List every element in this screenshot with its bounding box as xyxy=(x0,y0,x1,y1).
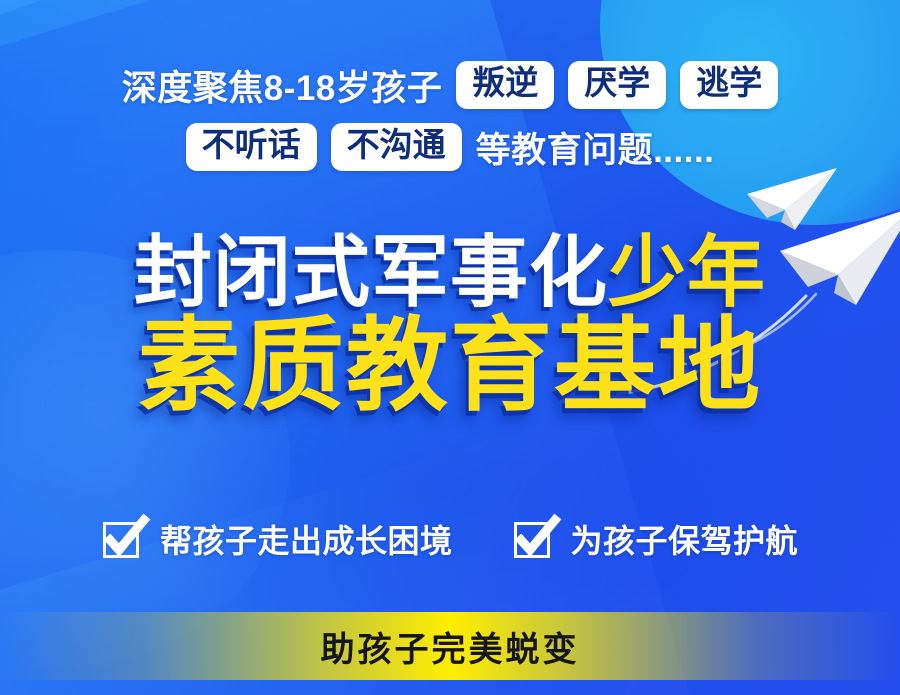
problem-tag-school-aversion[interactable]: 厌学 xyxy=(568,61,666,109)
hero-line-2: 素质教育基地 xyxy=(0,314,900,419)
problem-row-1: 深度聚焦8-18岁孩子 叛逆 厌学 逃学 xyxy=(0,58,900,112)
problem-row-2: 不听话 不沟通 等教育问题...... xyxy=(0,120,900,174)
problem-statement-block: 深度聚焦8-18岁孩子 叛逆 厌学 逃学 不听话 不沟通 等教育问题...... xyxy=(0,58,900,182)
checkbox-checked-icon xyxy=(102,517,146,561)
feature-label-escort-protection: 为孩子保驾护航 xyxy=(571,516,799,562)
feature-label-growth-difficulties: 帮孩子走出成长困境 xyxy=(160,516,453,562)
problem-tag-rebellion[interactable]: 叛逆 xyxy=(456,61,554,109)
feature-list: 帮孩子走出成长困境 为孩子保驾护航 xyxy=(0,516,900,562)
hero-line-1-yellow-part: 少年 xyxy=(608,228,766,316)
hero-headline: 封闭式军事化少年 素质教育基地 xyxy=(0,232,900,419)
hero-line-1-white-part: 封闭式军事化 xyxy=(134,228,608,316)
feature-item-growth-difficulties: 帮孩子走出成长困境 xyxy=(102,516,453,562)
feature-item-escort-protection: 为孩子保驾护航 xyxy=(513,516,799,562)
other-education-problems-text: 等教育问题...... xyxy=(476,122,715,173)
problem-tag-truancy[interactable]: 逃学 xyxy=(680,61,778,109)
promo-banner: 深度聚焦8-18岁孩子 叛逆 厌学 逃学 不听话 不沟通 等教育问题......… xyxy=(0,0,900,695)
background-band-upper xyxy=(0,0,900,57)
slogan-strip: 助孩子完美蜕变 xyxy=(0,612,900,680)
problem-tag-no-communication[interactable]: 不沟通 xyxy=(331,123,462,171)
hero-line-1: 封闭式军事化少年 xyxy=(0,232,900,312)
slogan-text: 助孩子完美蜕变 xyxy=(321,622,580,671)
problem-tag-disobedient[interactable]: 不听话 xyxy=(186,123,317,171)
checkbox-checked-icon xyxy=(513,517,557,561)
focus-age-text: 深度聚焦8-18岁孩子 xyxy=(122,60,443,111)
